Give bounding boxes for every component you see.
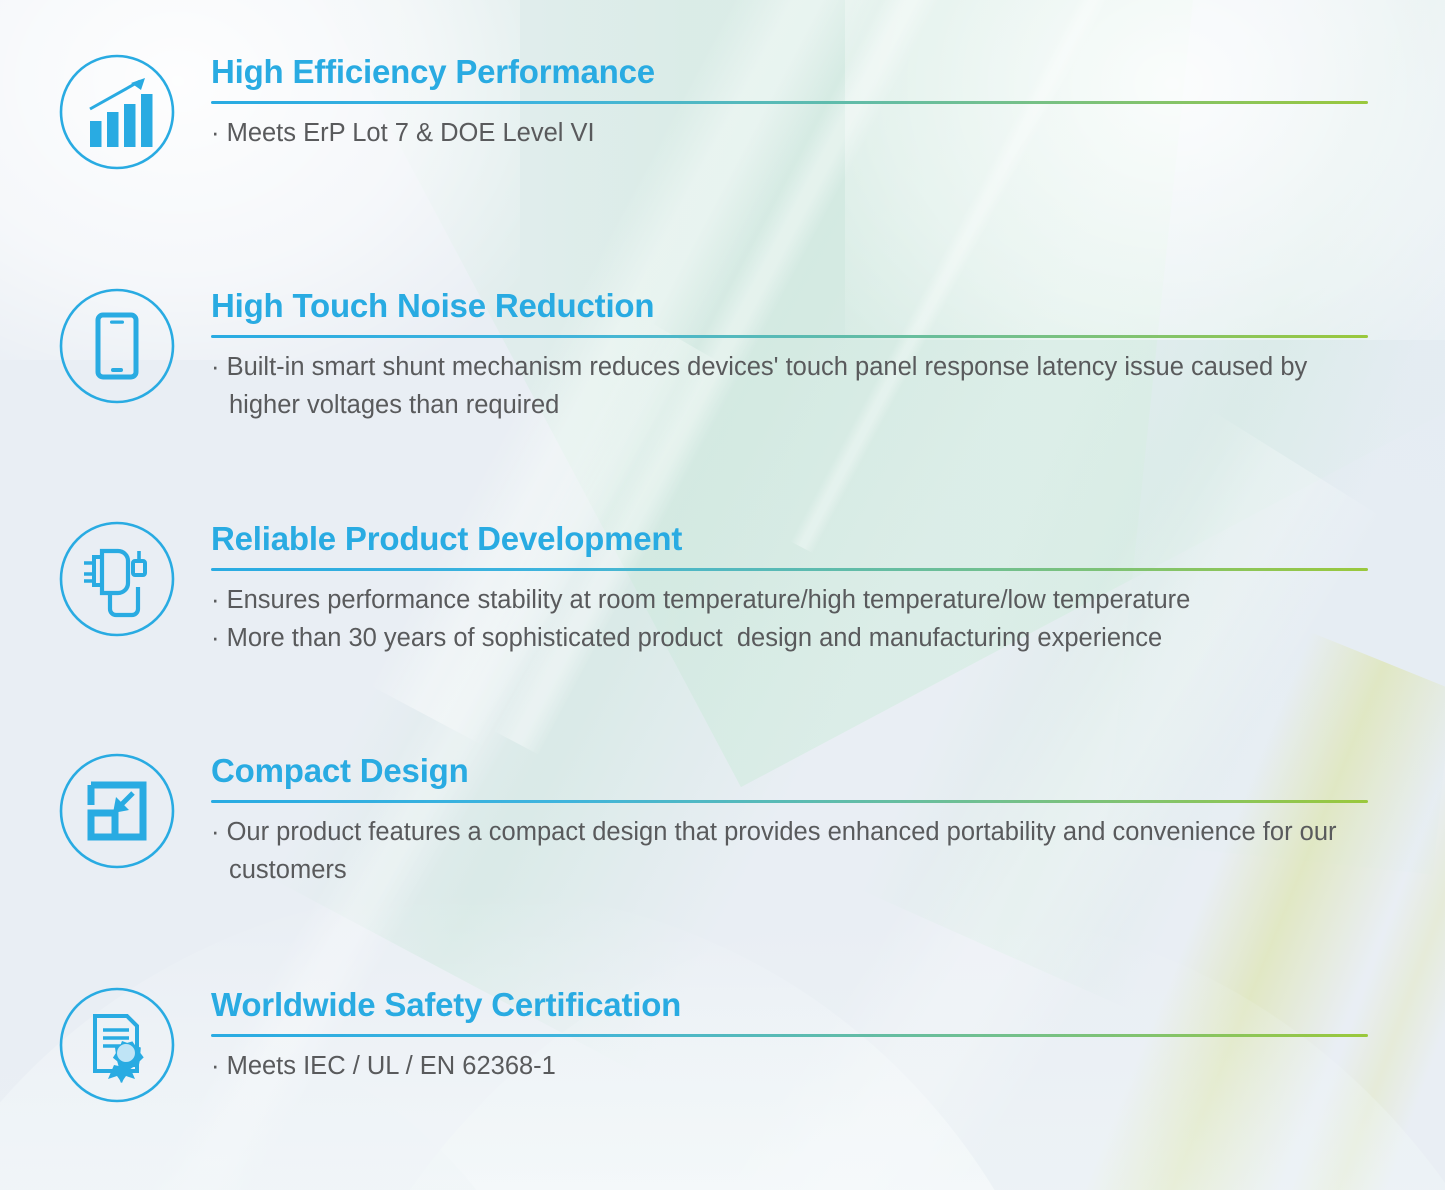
feature-bullets: · Our product features a compact design … (211, 813, 1371, 889)
power-adapter-icon (57, 519, 177, 639)
feature-bullet: · Built-in smart shunt mechanism reduces… (211, 348, 1371, 424)
feature-divider (211, 335, 1368, 338)
feature-text-block: Compact Design · Our product features a … (211, 751, 1371, 889)
feature-highlights-page: High Efficiency Performance · Meets ErP … (0, 0, 1445, 1190)
feature-icon-container (57, 985, 177, 1105)
feature-bullets: · Meets ErP Lot 7 & DOE Level VI (211, 114, 1371, 152)
feature-title: Worldwide Safety Certification (211, 985, 1371, 1025)
smartphone-icon (57, 286, 177, 406)
feature-icon-container (57, 286, 177, 406)
feature-bullets: · Built-in smart shunt mechanism reduces… (211, 348, 1371, 424)
certificate-award-icon (57, 985, 177, 1105)
feature-bullets: · Ensures performance stability at room … (211, 581, 1371, 657)
feature-title: High Touch Noise Reduction (211, 286, 1371, 326)
feature-bullet: · Meets IEC / UL / EN 62368-1 (211, 1047, 1371, 1085)
feature-icon-container (57, 751, 177, 871)
feature-divider (211, 1034, 1368, 1037)
feature-title: Reliable Product Development (211, 519, 1371, 559)
feature-title: Compact Design (211, 751, 1371, 791)
feature-text-block: High Efficiency Performance · Meets ErP … (211, 52, 1371, 152)
feature-divider (211, 101, 1368, 104)
feature-text-block: Worldwide Safety Certification · Meets I… (211, 985, 1371, 1085)
bar-chart-growth-icon (57, 52, 177, 172)
feature-icon-container (57, 519, 177, 639)
background-yellow-band-1 (943, 632, 1445, 1190)
feature-title: High Efficiency Performance (211, 52, 1371, 92)
feature-divider (211, 568, 1368, 571)
compact-resize-icon (57, 751, 177, 871)
feature-bullet: · Ensures performance stability at room … (211, 581, 1371, 619)
feature-text-block: Reliable Product Development · Ensures p… (211, 519, 1371, 657)
feature-bullet: · More than 30 years of sophisticated pr… (211, 619, 1371, 657)
feature-divider (211, 800, 1368, 803)
feature-text-block: High Touch Noise Reduction · Built-in sm… (211, 286, 1371, 424)
feature-bullet: · Our product features a compact design … (211, 813, 1371, 889)
feature-icon-container (57, 52, 177, 172)
feature-bullets: · Meets IEC / UL / EN 62368-1 (211, 1047, 1371, 1085)
feature-bullet: · Meets ErP Lot 7 & DOE Level VI (211, 114, 1371, 152)
